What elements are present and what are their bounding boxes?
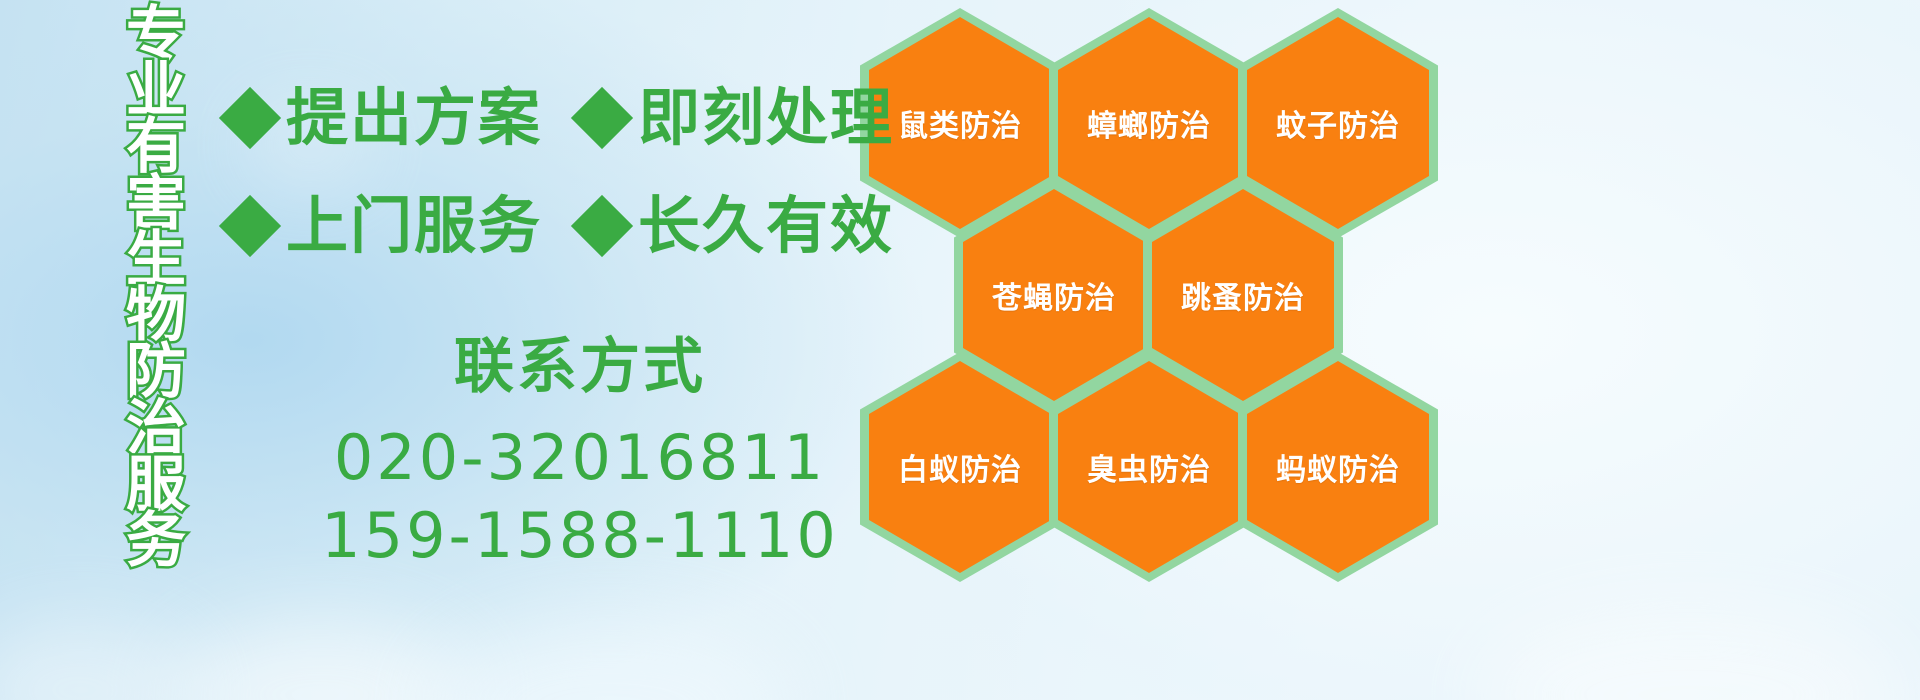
hex-label: 蚊子防治 — [1276, 101, 1400, 145]
background-blur-blob — [0, 620, 200, 700]
hex-label: 白蚁防治 — [898, 445, 1022, 489]
hex-label: 蟑螂防治 — [1087, 101, 1211, 145]
contact-title: 联系方式 — [300, 318, 860, 405]
vertical-slogan: 专 业 有 害 生 物 防 治 服 务 — [108, 8, 204, 568]
feature-label-propose-plan: 提出方案 — [286, 84, 542, 152]
diamond-bullet-icon — [571, 87, 633, 149]
background-blur-blob — [1480, 610, 1900, 700]
diamond-bullet-icon — [571, 195, 633, 257]
vertical-slogan-char: 害 — [126, 177, 186, 231]
hex-cell-ant-control[interactable]: 蚂蚁防治 — [1238, 352, 1438, 582]
vertical-slogan-char: 物 — [126, 289, 186, 343]
feature-row-2: 上门服务 长久有效 — [228, 192, 894, 260]
vertical-slogan-char: 务 — [126, 514, 186, 568]
feature-label-door-to-door-service: 上门服务 — [286, 192, 542, 260]
contact-phone-landline[interactable]: 020-32016811 — [300, 419, 860, 497]
hex-label: 鼠类防治 — [898, 101, 1022, 145]
vertical-slogan-char: 有 — [126, 120, 186, 174]
background-blur-blob — [170, 620, 470, 700]
contact-phone-mobile[interactable]: 159-1588-1110 — [300, 497, 860, 575]
service-honeycomb: 鼠类防治 蟑螂防治 蚊子防治 苍蝇防治 跳蚤防治 白蚁防治 — [852, 0, 1472, 580]
hex-cell-termite-control[interactable]: 白蚁防治 — [860, 352, 1060, 582]
pest-control-service-banner: 专 业 有 害 生 物 防 治 服 务 提出方案 即刻处理 上门服务 长久有效 … — [0, 0, 1920, 700]
vertical-slogan-char: 服 — [126, 458, 186, 512]
vertical-slogan-char: 治 — [126, 402, 186, 456]
diamond-bullet-icon — [219, 87, 281, 149]
hex-label: 跳蚤防治 — [1181, 273, 1305, 317]
background-blur-blob — [430, 620, 790, 700]
hex-cell-bedbug-control[interactable]: 臭虫防治 — [1049, 352, 1249, 582]
hex-label: 臭虫防治 — [1087, 445, 1211, 489]
diamond-bullet-icon — [219, 195, 281, 257]
vertical-slogan-char: 生 — [126, 233, 186, 287]
feature-label-immediate-treatment: 即刻处理 — [638, 84, 894, 152]
feature-label-long-lasting-effect: 长久有效 — [638, 192, 894, 260]
vertical-slogan-char: 防 — [126, 345, 186, 399]
contact-block: 联系方式 020-32016811 159-1588-1110 — [300, 318, 860, 575]
feature-row-1: 提出方案 即刻处理 — [228, 84, 894, 152]
hex-label: 蚂蚁防治 — [1276, 445, 1400, 489]
hex-label: 苍蝇防治 — [992, 273, 1116, 317]
vertical-slogan-char: 业 — [126, 64, 186, 118]
vertical-slogan-char: 专 — [126, 8, 186, 62]
